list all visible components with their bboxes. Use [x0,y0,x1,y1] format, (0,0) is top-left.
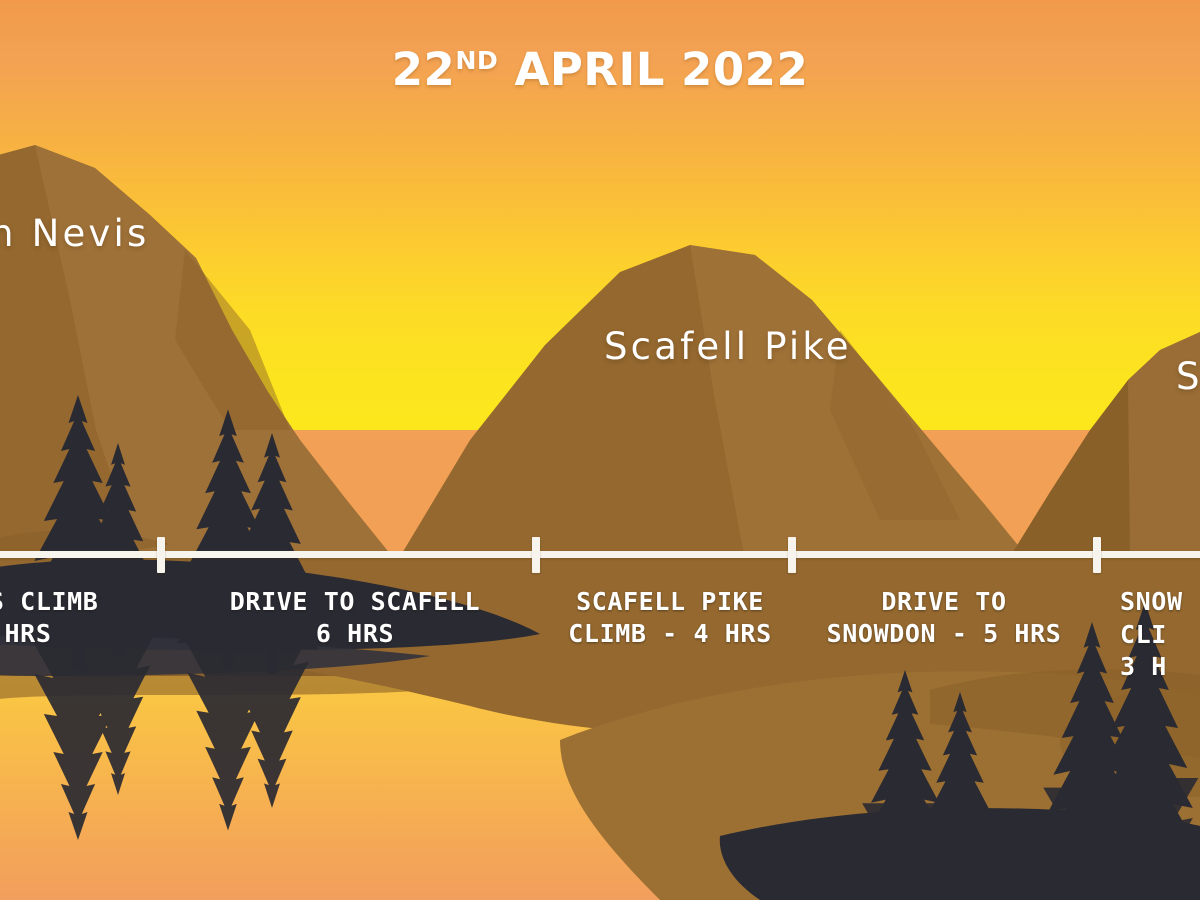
timeline-tick-2[interactable] [532,537,540,573]
timeline-tick-4[interactable] [1093,537,1101,573]
segment-line-2: 6 HRS [224,618,486,650]
timeline-segment-ben-nevis-climb: VIS CLIMB HRS [0,586,152,650]
peak-label-snowdon: S [1176,355,1200,398]
title-day: 22 [392,43,456,96]
segment-line-1: SCAFELL PIKE [576,587,764,616]
timeline-segment-drive-to-snowdon: DRIVE TO SNOWDON - 5 HRS [815,586,1073,650]
foreground-silhouettes [0,0,1200,900]
peak-label-ben-nevis: en Nevis [0,212,149,255]
timeline-tick-3[interactable] [788,537,796,573]
segment-line-1: VIS CLIMB [0,587,98,616]
title-month-year: APRIL 2022 [498,43,808,96]
segment-line-2: CLIMB - 4 HRS [565,618,775,650]
timeline-segment-snowdon-climb: SNOW CLI 3 H [1120,586,1200,684]
timeline-segment-scafell-pike-climb: SCAFELL PIKE CLIMB - 4 HRS [565,586,775,650]
infographic-canvas: 22ND APRIL 2022 en Nevis Scafell Pike S … [0,0,1200,900]
peak-label-scafell-pike: Scafell Pike [604,325,852,368]
title-ordinal: ND [455,46,498,75]
segment-line-1: DRIVE TO SCAFELL [230,587,480,616]
segment-line-3: 3 H [1120,651,1200,684]
segment-line-2: HRS [0,618,152,650]
timeline-segment-drive-to-scafell: DRIVE TO SCAFELL 6 HRS [224,586,486,650]
segment-line-1: DRIVE TO [881,587,1006,616]
timeline-axis [0,551,1200,558]
segment-line-2: SNOWDON - 5 HRS [815,618,1073,650]
segment-line-1: SNOW [1120,587,1183,616]
page-title: 22ND APRIL 2022 [0,47,1200,92]
timeline-tick-1[interactable] [157,537,165,573]
segment-line-2: CLI [1120,619,1200,652]
